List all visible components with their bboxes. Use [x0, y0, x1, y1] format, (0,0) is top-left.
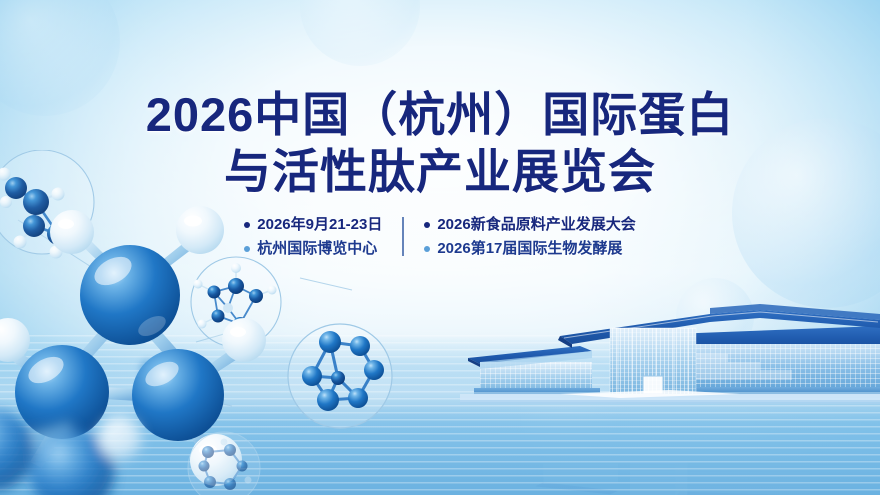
bullet-dot-light-icon [244, 246, 250, 252]
info-divider [402, 217, 404, 256]
water-sheen [0, 363, 880, 423]
info-text-date: 2026年9月21-23日 [257, 214, 382, 235]
info-row: 杭州国际博览中心 [244, 238, 382, 259]
bullet-dot-dark-icon [244, 222, 250, 228]
info-column-right: 2026新食品原料产业发展大会 2026第17届国际生物发酵展 [404, 214, 635, 259]
banner-headline: 2026中国（杭州）国际蛋白 与活性肽产业展览会 [0, 86, 880, 200]
info-row: 2026第17届国际生物发酵展 [424, 238, 635, 259]
info-column-left: 2026年9月21-23日 杭州国际博览中心 [244, 214, 402, 259]
title-line-1: 2026中国（杭州）国际蛋白 [0, 86, 880, 143]
title-line-2: 与活性肽产业展览会 [0, 143, 880, 200]
info-row: 2026年9月21-23日 [244, 214, 382, 235]
banner-info-block: 2026年9月21-23日 杭州国际博览中心 2026新食品原料产业发展大会 2… [0, 214, 880, 259]
info-text-coexhibition: 2026第17届国际生物发酵展 [437, 238, 622, 259]
info-text-venue: 杭州国际博览中心 [257, 238, 377, 259]
bullet-dot-dark-icon [424, 222, 430, 228]
bullet-dot-light-icon [424, 246, 430, 252]
info-text-conference: 2026新食品原料产业发展大会 [437, 214, 635, 235]
info-row: 2026新食品原料产业发展大会 [424, 214, 635, 235]
exhibition-banner: 2026中国（杭州）国际蛋白 与活性肽产业展览会 2026年9月21-23日 杭… [0, 0, 880, 495]
